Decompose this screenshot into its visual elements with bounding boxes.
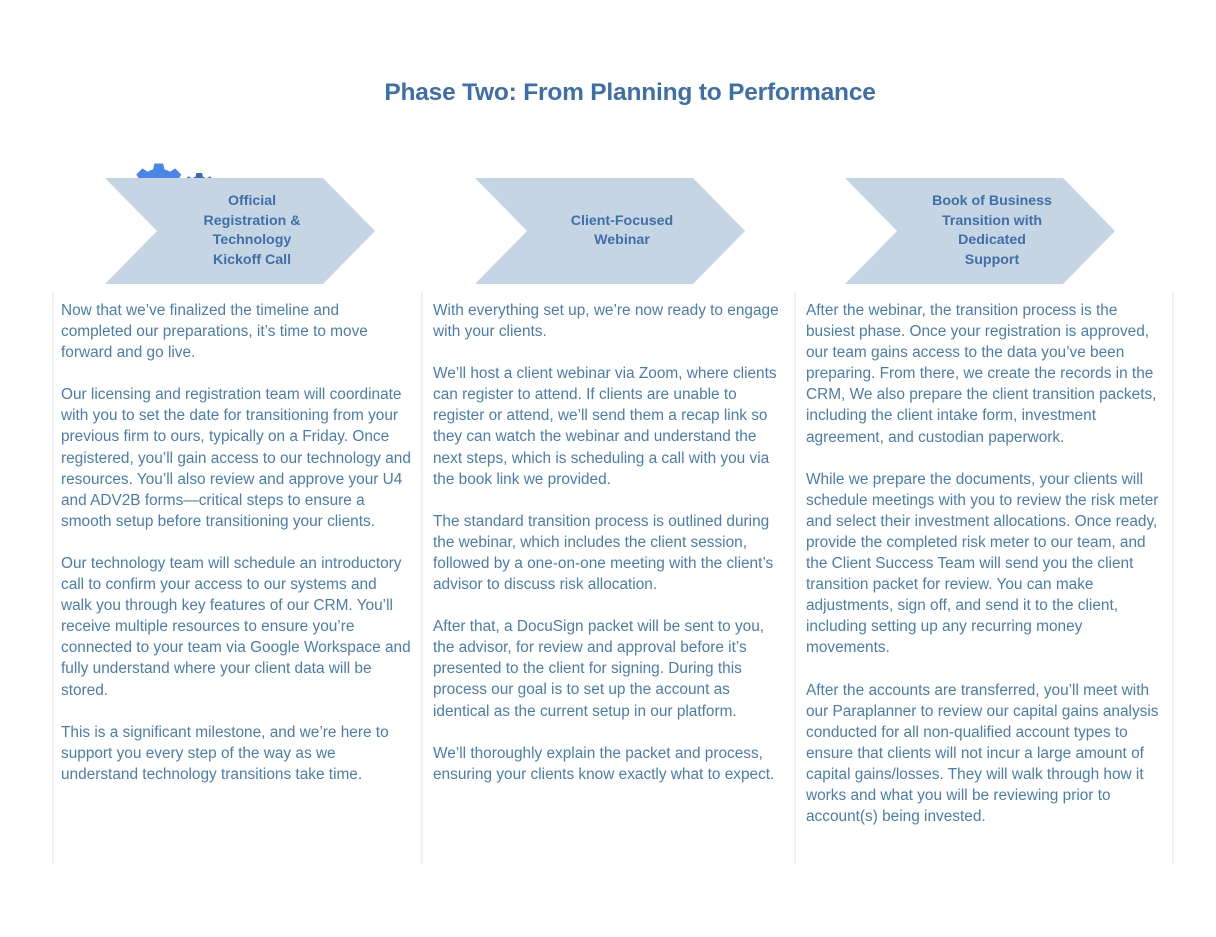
page-header: Phase Two: From Planning to Performance [0, 78, 1216, 158]
step-chevron-2-label: Client-Focused Webinar [527, 178, 717, 284]
paragraph: Now that we’ve finalized the timeline an… [61, 300, 411, 363]
paragraph: After that, a DocuSign packet will be se… [433, 616, 785, 721]
content-column-1: Now that we’ve finalized the timeline an… [61, 300, 411, 785]
column-divider [794, 292, 796, 864]
step-chevron-1-label: Official Registration & Technology Kicko… [157, 178, 347, 284]
paragraph: Our technology team will schedule an int… [61, 553, 411, 701]
paragraph: After the webinar, the transition proces… [806, 300, 1166, 448]
content-column-2: With everything set up, we’re now ready … [433, 300, 785, 785]
step-chevron-1[interactable]: Official Registration & Technology Kicko… [105, 178, 375, 284]
column-divider [1172, 292, 1174, 864]
paragraph: With everything set up, we’re now ready … [433, 300, 785, 342]
infographic-page: Phase Two: From Planning to Performance … [0, 0, 1216, 937]
process-steps: Official Registration & Technology Kicko… [0, 178, 1216, 284]
paragraph: While we prepare the documents, your cli… [806, 469, 1166, 659]
paragraph: This is a significant milestone, and we’… [61, 722, 411, 785]
step-chevron-3-label: Book of Business Transition with Dedicat… [897, 178, 1087, 284]
paragraph: We’ll thoroughly explain the packet and … [433, 743, 785, 785]
paragraph: After the accounts are transferred, you’… [806, 680, 1166, 828]
paragraph: We’ll host a client webinar via Zoom, wh… [433, 363, 785, 490]
paragraph: The standard transition process is outli… [433, 511, 785, 595]
page-title: Phase Two: From Planning to Performance [260, 78, 1000, 108]
content-columns: Now that we’ve finalized the timeline an… [0, 292, 1216, 872]
paragraph: Our licensing and registration team will… [61, 384, 411, 532]
content-column-3: After the webinar, the transition proces… [806, 300, 1166, 827]
column-divider [421, 292, 423, 864]
step-chevron-3[interactable]: Book of Business Transition with Dedicat… [845, 178, 1115, 284]
step-chevron-2[interactable]: Client-Focused Webinar [475, 178, 745, 284]
column-divider [52, 292, 54, 864]
